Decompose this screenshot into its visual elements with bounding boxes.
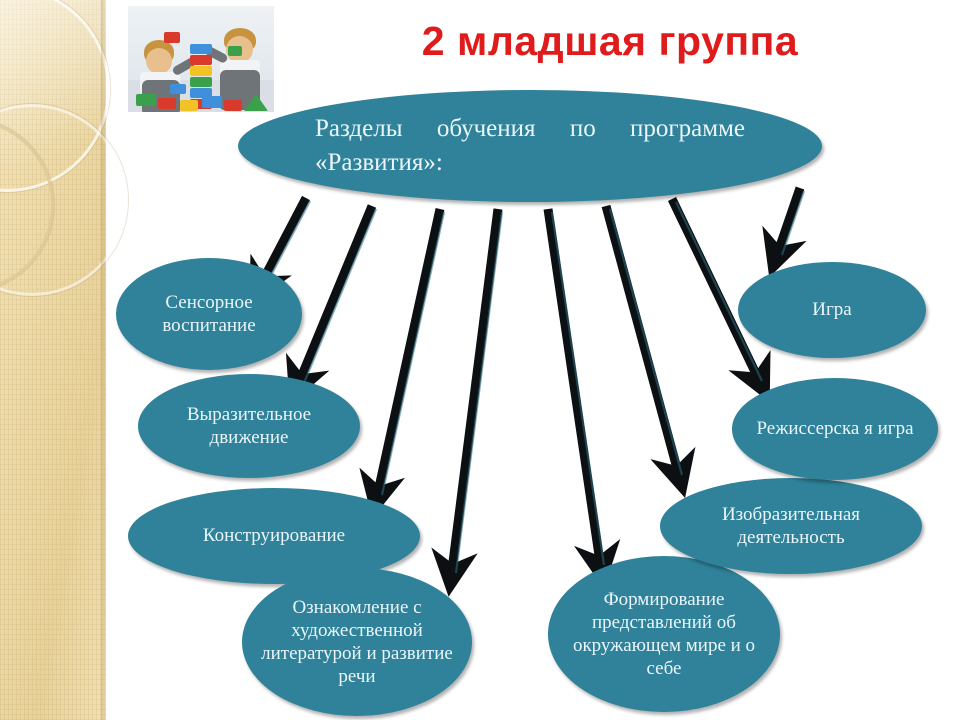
diagram-node-izobrazitelnaya-deyatelnost[interactable]: Изобразительная деятельность (660, 478, 922, 574)
node-label: Изобразительная деятельность (660, 503, 922, 549)
node-label: Сенсорное воспитание (116, 291, 302, 337)
node-label: Формирование представлений об окружающем… (548, 588, 780, 681)
diagram-node-vyrazitelnoe-dvizhenie[interactable]: Выразительное движение (138, 374, 360, 478)
diagram-root-node[interactable]: Разделы обучения по программе «Развития»… (238, 90, 822, 202)
slide: 2 младшая группа (0, 0, 960, 720)
node-label: Ознакомление с художественной литературо… (242, 596, 472, 689)
node-label: Конструирование (193, 524, 355, 547)
diagram-root-label: Разделы обучения по программе «Развития»… (305, 112, 755, 180)
diagram-node-sensornoe-vospitanie[interactable]: Сенсорное воспитание (116, 258, 302, 370)
diagram-node-oznakomlenie-s-literaturoy[interactable]: Ознакомление с художественной литературо… (242, 568, 472, 716)
node-label: Игра (802, 298, 861, 321)
diagram-node-igra[interactable]: Игра (738, 262, 926, 358)
diagram-node-rezhisserskaya-igra[interactable]: Режиссерска я игра (732, 378, 938, 480)
diagram-node-formirovanie-predstavleniy[interactable]: Формирование представлений об окружающем… (548, 556, 780, 712)
node-label: Режиссерска я игра (746, 416, 923, 442)
node-label: Выразительное движение (138, 403, 360, 449)
